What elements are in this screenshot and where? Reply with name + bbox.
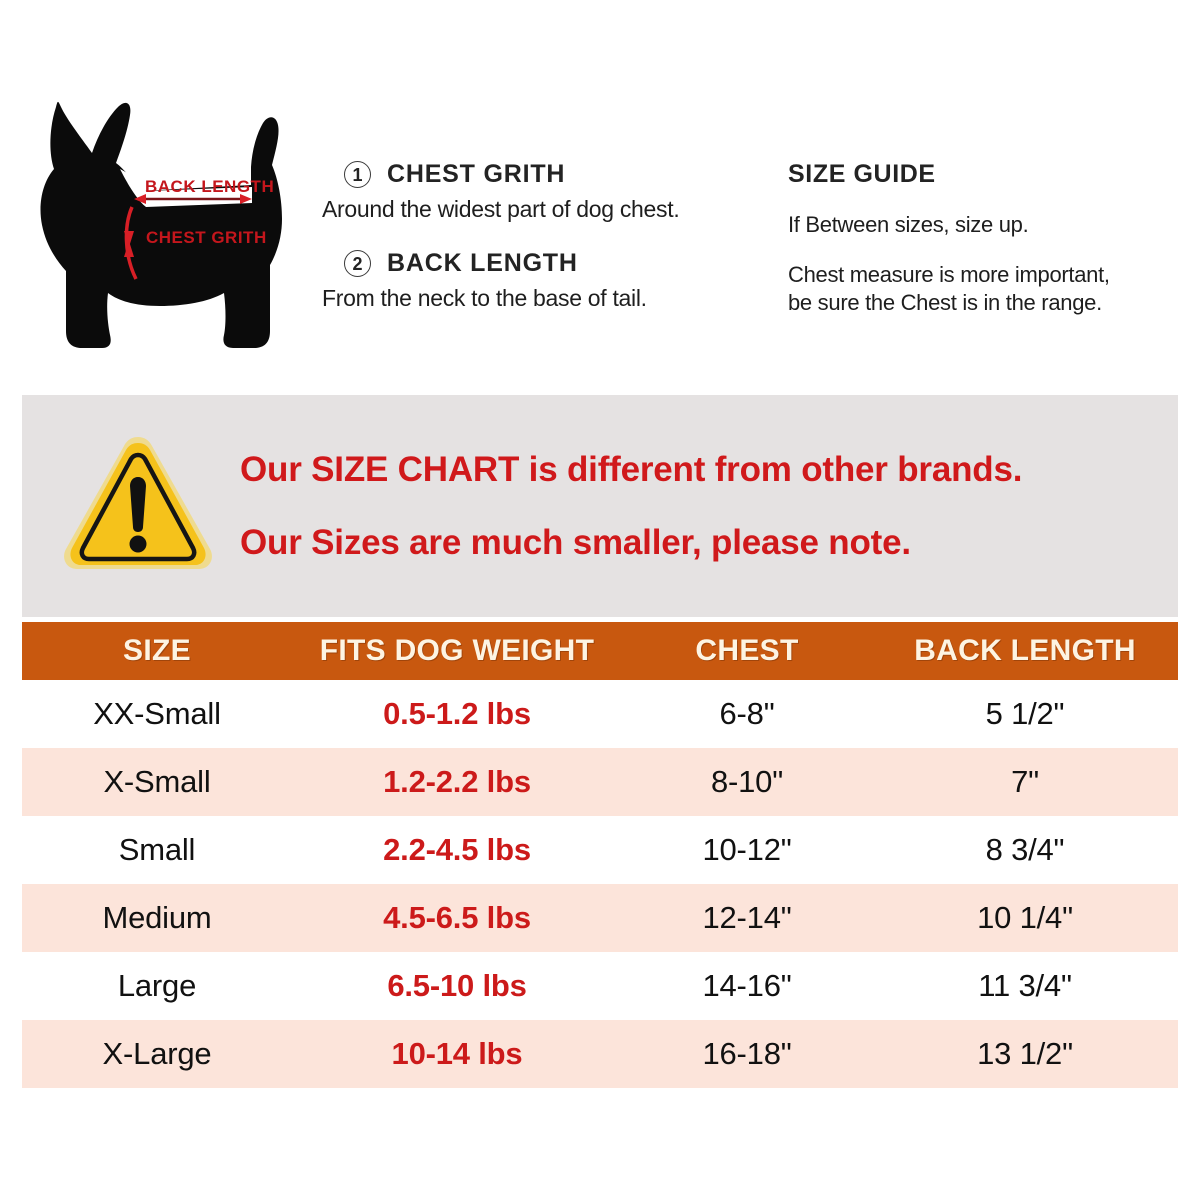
number-circle-1-icon: 1 — [344, 161, 371, 188]
instruction-item-1: 1 CHEST GRITH Around the widest part of … — [322, 160, 742, 223]
table-body: XX-Small 0.5-1.2 lbs 6-8" 5 1/2" X-Small… — [22, 680, 1178, 1088]
column-header-weight: FITS DOG WEIGHT — [292, 622, 622, 680]
size-chart-table: SIZE FITS DOG WEIGHT CHEST BACK LENGTH X… — [22, 622, 1178, 1088]
instruction-2-heading: 2 BACK LENGTH — [344, 249, 742, 278]
instruction-1-title: CHEST GRITH — [387, 160, 565, 189]
cell-back-length: 7" — [872, 748, 1178, 816]
cell-weight: 1.2-2.2 lbs — [292, 748, 622, 816]
cell-size: Medium — [22, 884, 292, 952]
table-row: Small 2.2-4.5 lbs 10-12" 8 3/4" — [22, 816, 1178, 884]
table-row: X-Large 10-14 lbs 16-18" 13 1/2" — [22, 1020, 1178, 1088]
cell-chest: 16-18" — [622, 1020, 872, 1088]
cell-weight: 10-14 lbs — [292, 1020, 622, 1088]
dog-silhouette-illustration: BACK LENGTH CHEST GRITH — [20, 95, 320, 370]
cell-chest: 12-14" — [622, 884, 872, 952]
dog-body-shape — [41, 102, 283, 348]
cell-weight: 4.5-6.5 lbs — [292, 884, 622, 952]
cell-chest: 14-16" — [622, 952, 872, 1020]
warning-line-2: Our Sizes are much smaller, please note. — [240, 525, 1178, 560]
cell-back-length: 8 3/4" — [872, 816, 1178, 884]
warning-triangle-icon — [58, 431, 218, 581]
cell-weight: 6.5-10 lbs — [292, 952, 622, 1020]
exclamation-dot — [130, 536, 147, 553]
size-guide-line-2b: be sure the Chest is in the range. — [788, 290, 1102, 315]
cell-weight: 2.2-4.5 lbs — [292, 816, 622, 884]
instruction-2-description: From the neck to the base of tail. — [322, 285, 742, 312]
warning-banner: Our SIZE CHART is different from other b… — [22, 395, 1178, 617]
cell-chest: 8-10" — [622, 748, 872, 816]
cell-size: Small — [22, 816, 292, 884]
warning-line-1: Our SIZE CHART is different from other b… — [240, 452, 1178, 487]
instruction-1-description: Around the widest part of dog chest. — [322, 196, 742, 223]
measurement-guide-section: BACK LENGTH CHEST GRITH 1 CHEST GRITH Ar… — [0, 80, 1200, 380]
instruction-item-2: 2 BACK LENGTH From the neck to the base … — [322, 249, 742, 312]
size-guide-title: SIZE GUIDE — [788, 160, 1188, 189]
size-guide-line-2: Chest measure is more important, be sure… — [788, 261, 1188, 317]
table-row: Large 6.5-10 lbs 14-16" 11 3/4" — [22, 952, 1178, 1020]
column-header-chest: CHEST — [622, 622, 872, 680]
cell-back-length: 10 1/4" — [872, 884, 1178, 952]
back-length-illustration-label: BACK LENGTH — [145, 177, 274, 196]
table-header: SIZE FITS DOG WEIGHT CHEST BACK LENGTH — [22, 622, 1178, 680]
instruction-1-heading: 1 CHEST GRITH — [344, 160, 742, 189]
size-guide-column: SIZE GUIDE If Between sizes, size up. Ch… — [788, 160, 1188, 317]
table-row: XX-Small 0.5-1.2 lbs 6-8" 5 1/2" — [22, 680, 1178, 748]
cell-chest: 10-12" — [622, 816, 872, 884]
size-guide-line-1: If Between sizes, size up. — [788, 211, 1188, 239]
column-header-size: SIZE — [22, 622, 292, 680]
table-row: Medium 4.5-6.5 lbs 12-14" 10 1/4" — [22, 884, 1178, 952]
cell-weight: 0.5-1.2 lbs — [292, 680, 622, 748]
table-header-row: SIZE FITS DOG WEIGHT CHEST BACK LENGTH — [22, 622, 1178, 680]
size-chart-page: BACK LENGTH CHEST GRITH 1 CHEST GRITH Ar… — [0, 0, 1200, 1200]
cell-size: X-Small — [22, 748, 292, 816]
cell-back-length: 11 3/4" — [872, 952, 1178, 1020]
instruction-2-title: BACK LENGTH — [387, 249, 578, 278]
chest-girth-illustration-label: CHEST GRITH — [146, 228, 267, 247]
warning-text-block: Our SIZE CHART is different from other b… — [240, 452, 1178, 560]
instructions-column: 1 CHEST GRITH Around the widest part of … — [322, 160, 742, 312]
table-row: X-Small 1.2-2.2 lbs 8-10" 7" — [22, 748, 1178, 816]
cell-chest: 6-8" — [622, 680, 872, 748]
cell-size: Large — [22, 952, 292, 1020]
cell-back-length: 5 1/2" — [872, 680, 1178, 748]
cell-size: X-Large — [22, 1020, 292, 1088]
cell-back-length: 13 1/2" — [872, 1020, 1178, 1088]
column-header-back-length: BACK LENGTH — [872, 622, 1178, 680]
number-circle-2-icon: 2 — [344, 250, 371, 277]
size-guide-line-2a: Chest measure is more important, — [788, 262, 1110, 287]
cell-size: XX-Small — [22, 680, 292, 748]
